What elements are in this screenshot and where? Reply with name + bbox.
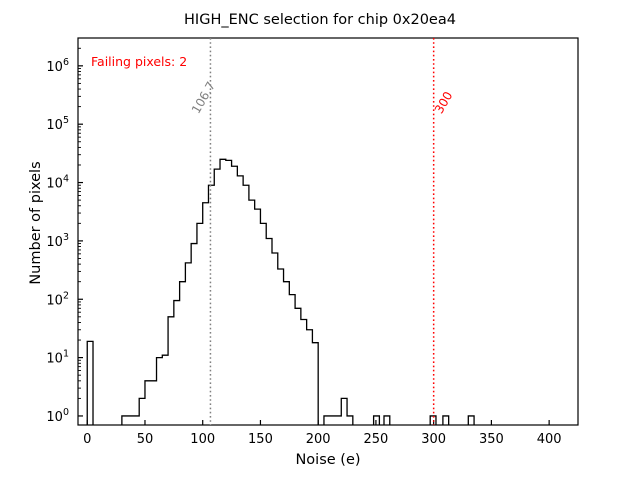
- x-tick-label: 250: [364, 432, 389, 447]
- x-tick-label: 150: [248, 432, 273, 447]
- x-tick-label: 300: [421, 432, 446, 447]
- x-tick-label: 100: [190, 432, 215, 447]
- y-tick-label: 105: [46, 115, 69, 133]
- x-tick-label: 0: [83, 432, 91, 447]
- y-tick-label: 104: [46, 174, 69, 192]
- x-tick-label: 350: [479, 432, 504, 447]
- histogram-step-line: [87, 159, 474, 425]
- figure-canvas: HIGH_ENC selection for chip 0x20ea4 Numb…: [0, 0, 640, 480]
- y-tick-label: 101: [46, 349, 69, 367]
- histogram-plot: 1001011021031041051060501001502002503003…: [0, 0, 640, 480]
- failing-pixels-annotation: Failing pixels: 2: [91, 54, 187, 69]
- x-tick-label: 200: [306, 432, 331, 447]
- y-tick-label: 102: [46, 290, 69, 308]
- y-tick-label: 103: [46, 232, 69, 250]
- y-tick-label: 100: [46, 407, 69, 425]
- axes-frame: [78, 38, 578, 425]
- y-tick-label: 106: [46, 57, 69, 75]
- x-tick-label: 50: [137, 432, 154, 447]
- x-tick-label: 400: [537, 432, 562, 447]
